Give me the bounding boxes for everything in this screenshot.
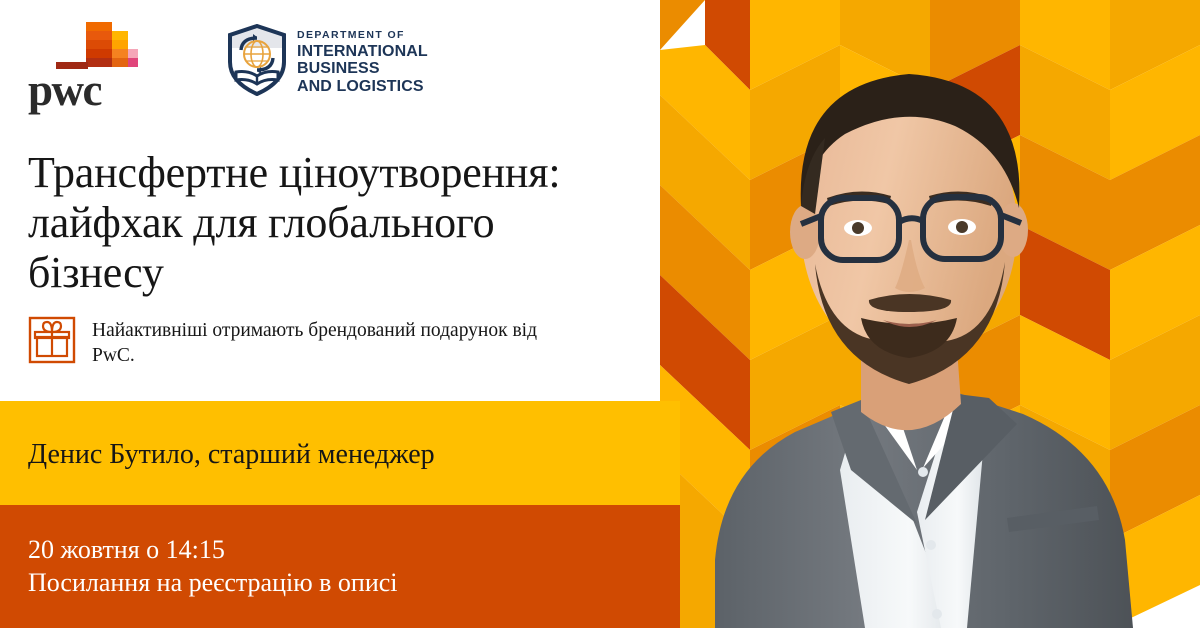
gift-note: Найактивніші отримають брендований подар…: [28, 316, 562, 368]
department-text: DEPARTMENT OF INTERNATIONAL BUSINESS AND…: [297, 25, 428, 96]
department-line-3: BUSINESS: [297, 60, 428, 78]
speaker-name-title: Денис Бутило, старший менеджер: [28, 439, 435, 471]
page-title: Трансфертне ціноутворення: лайфхак для г…: [28, 148, 638, 298]
webinar-banner: pwc: [0, 0, 1200, 628]
pattern-panel: [660, 0, 1200, 628]
department-line-4: AND LOGISTICS: [297, 78, 428, 96]
speaker-band: Денис Бутило, старший менеджер: [0, 401, 680, 505]
pwc-logo: pwc: [28, 22, 140, 112]
gift-note-text: Найактивніші отримають брендований подар…: [92, 316, 562, 368]
pwc-wordmark: pwc: [28, 68, 101, 113]
event-datetime: 20 жовтня о 14:15: [28, 533, 398, 566]
shield-globe-book-icon: [226, 24, 288, 96]
left-content-column: pwc: [0, 0, 680, 628]
department-line-2: INTERNATIONAL: [297, 43, 428, 61]
event-band: 20 жовтня о 14:15 Посилання на реєстраці…: [0, 505, 680, 628]
department-line-1: DEPARTMENT OF: [297, 28, 428, 43]
gift-icon: [28, 316, 76, 364]
department-logo: DEPARTMENT OF INTERNATIONAL BUSINESS AND…: [226, 22, 428, 96]
event-registration-note: Посилання на реєстрацію в описі: [28, 566, 398, 599]
event-details: 20 жовтня о 14:15 Посилання на реєстраці…: [28, 533, 398, 599]
chevron-diamond-pattern-icon: [660, 0, 1200, 628]
logo-row: pwc: [28, 22, 428, 112]
